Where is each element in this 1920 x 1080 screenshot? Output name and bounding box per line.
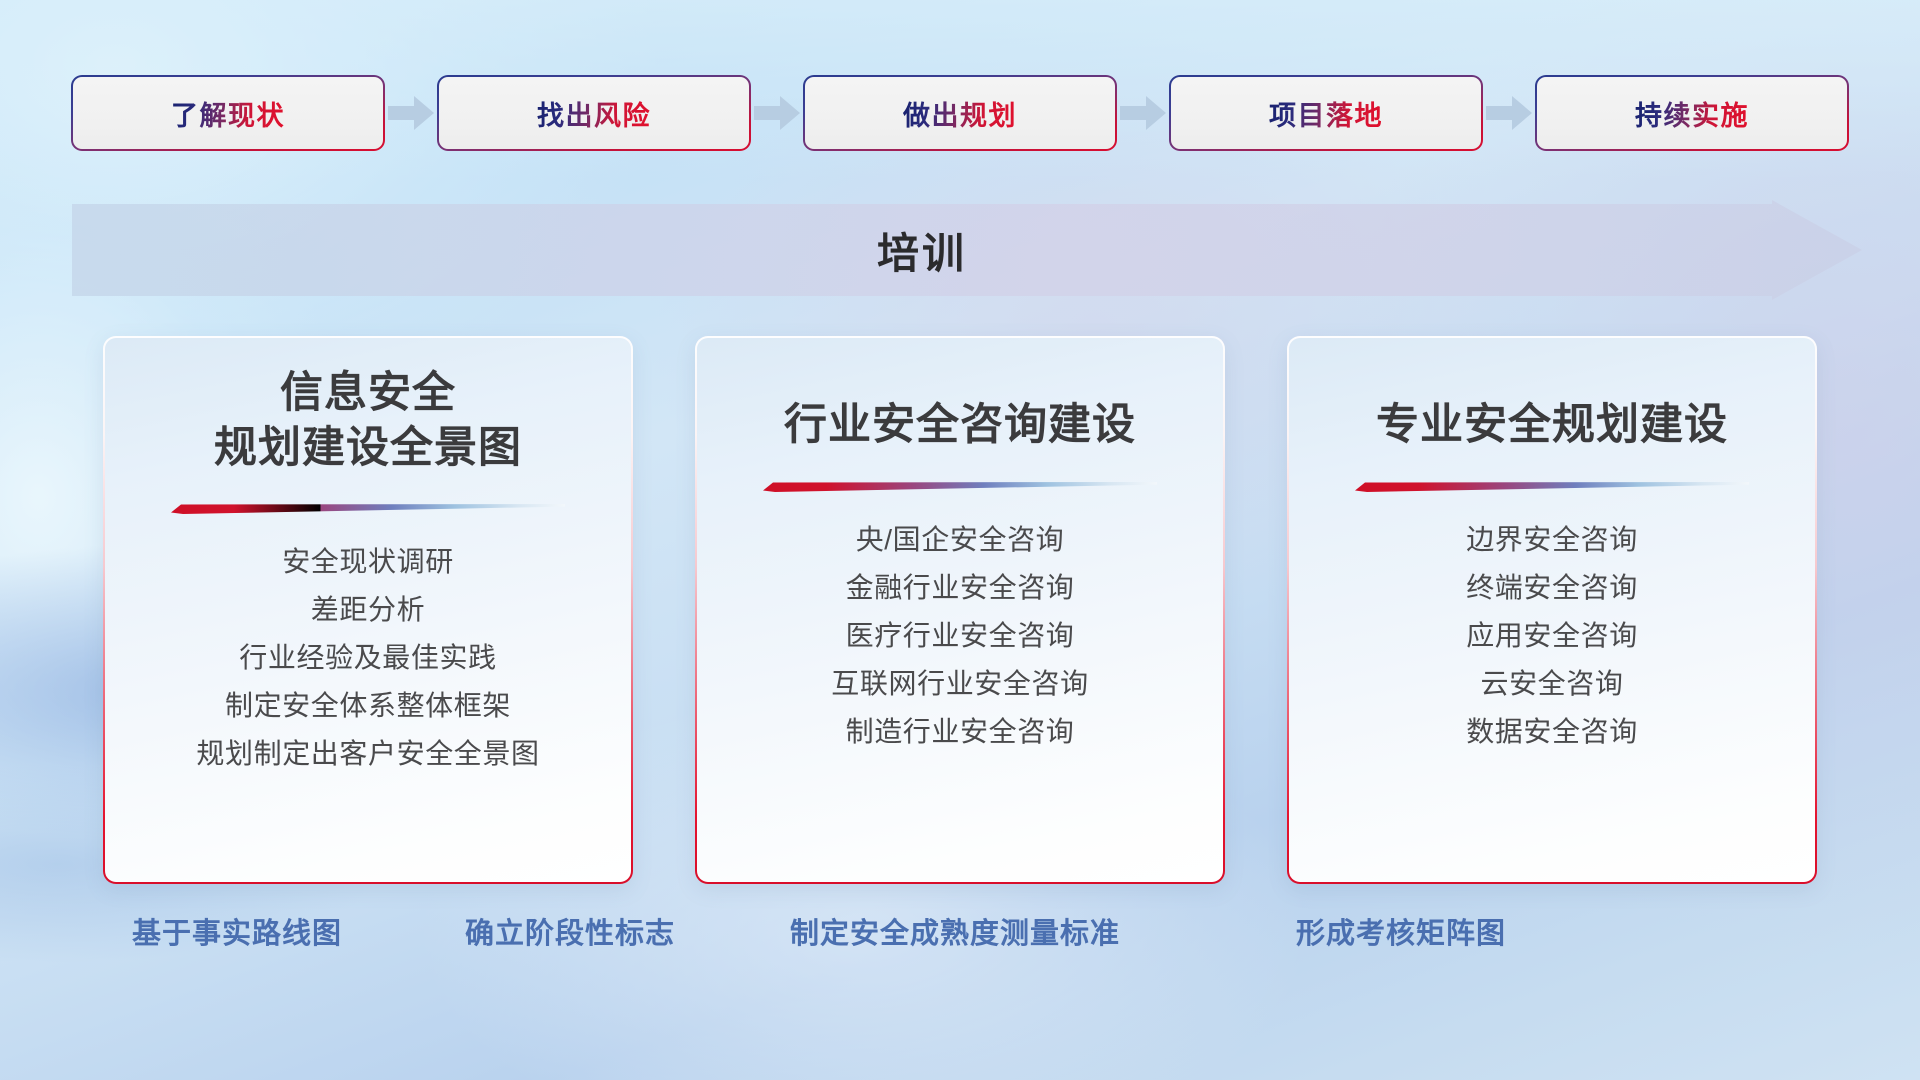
card-2-item-1: 央/国企安全咨询 — [856, 516, 1065, 564]
card-3-list: 边界安全咨询 终端安全咨询 应用安全咨询 云安全咨询 数据安全咨询 — [1289, 516, 1815, 756]
card-2-item-5: 制造行业安全咨询 — [846, 708, 1075, 756]
step-box-3[interactable]: 做出规划 — [805, 77, 1115, 149]
card-2-inner: 行业安全咨询建设 — [697, 338, 1223, 882]
card-3-title: 专业安全规划建设 — [1376, 398, 1728, 453]
card-3[interactable]: 专业安全规划建设 — [1287, 336, 1817, 884]
step-box-4[interactable]: 项目落地 — [1171, 77, 1481, 149]
card-2-title: 行业安全咨询建设 — [784, 398, 1136, 453]
card-3-item-4: 云安全咨询 — [1480, 660, 1623, 708]
card-3-inner: 专业安全规划建设 — [1289, 338, 1815, 882]
card-1-list: 安全现状调研 差距分析 行业经验及最佳实践 制定安全体系整体框架 规划制定出客户… — [105, 538, 631, 778]
card-2-divider — [763, 479, 1157, 492]
training-banner: 培训 — [72, 200, 1862, 300]
card-1-item-1: 安全现状调研 — [282, 538, 454, 586]
card-3-item-3: 应用安全咨询 — [1466, 612, 1638, 660]
step-label-5: 持续实施 — [1635, 94, 1749, 133]
step-arrow-icon-1 — [383, 74, 439, 152]
card-3-divider — [1355, 479, 1749, 492]
bottom-label-3: 制定安全成熟度测量标准 — [790, 910, 1120, 952]
card-row: 信息安全 规划建设全景图 — [0, 336, 1920, 886]
card-1-divider — [171, 501, 565, 514]
step-arrow-icon-2 — [749, 74, 805, 152]
bottom-label-1: 基于事实路线图 — [132, 910, 342, 952]
step-label-4: 项目落地 — [1269, 94, 1383, 133]
card-1-title: 信息安全 规划建设全景图 — [214, 366, 522, 475]
card-1-item-3: 行业经验及最佳实践 — [239, 634, 496, 682]
card-1-item-4: 制定安全体系整体框架 — [225, 682, 511, 730]
card-2[interactable]: 行业安全咨询建设 — [695, 336, 1225, 884]
card-1-inner: 信息安全 规划建设全景图 — [105, 338, 631, 882]
bottom-label-4: 形成考核矩阵图 — [1296, 910, 1506, 952]
card-3-item-5: 数据安全咨询 — [1466, 708, 1638, 756]
step-label-3: 做出规划 — [903, 94, 1017, 133]
card-2-list: 央/国企安全咨询 金融行业安全咨询 医疗行业安全咨询 互联网行业安全咨询 制造行… — [697, 516, 1223, 756]
step-label-2: 找出风险 — [537, 94, 651, 133]
step-label-1: 了解现状 — [171, 94, 285, 133]
step-arrow-icon-4 — [1481, 74, 1537, 152]
card-1[interactable]: 信息安全 规划建设全景图 — [103, 336, 633, 884]
card-2-item-3: 医疗行业安全咨询 — [846, 612, 1075, 660]
step-box-2[interactable]: 找出风险 — [439, 77, 749, 149]
card-1-item-5: 规划制定出客户安全全景图 — [196, 730, 539, 778]
banner-title: 培训 — [72, 200, 1772, 300]
step-arrow-icon-3 — [1115, 74, 1171, 152]
process-step-row: 了解现状 找出风险 做出规划 项目落地 持续实施 — [0, 74, 1920, 152]
card-3-item-1: 边界安全咨询 — [1466, 516, 1638, 564]
card-2-item-4: 互联网行业安全咨询 — [831, 660, 1088, 708]
card-3-item-2: 终端安全咨询 — [1466, 564, 1638, 612]
step-box-1[interactable]: 了解现状 — [73, 77, 383, 149]
card-2-item-2: 金融行业安全咨询 — [846, 564, 1075, 612]
step-box-5[interactable]: 持续实施 — [1537, 77, 1847, 149]
bottom-label-row: 基于事实路线图 确立阶段性标志 制定安全成熟度测量标准 形成考核矩阵图 — [0, 910, 1920, 970]
card-1-item-2: 差距分析 — [311, 586, 425, 634]
bottom-label-2: 确立阶段性标志 — [465, 910, 675, 952]
